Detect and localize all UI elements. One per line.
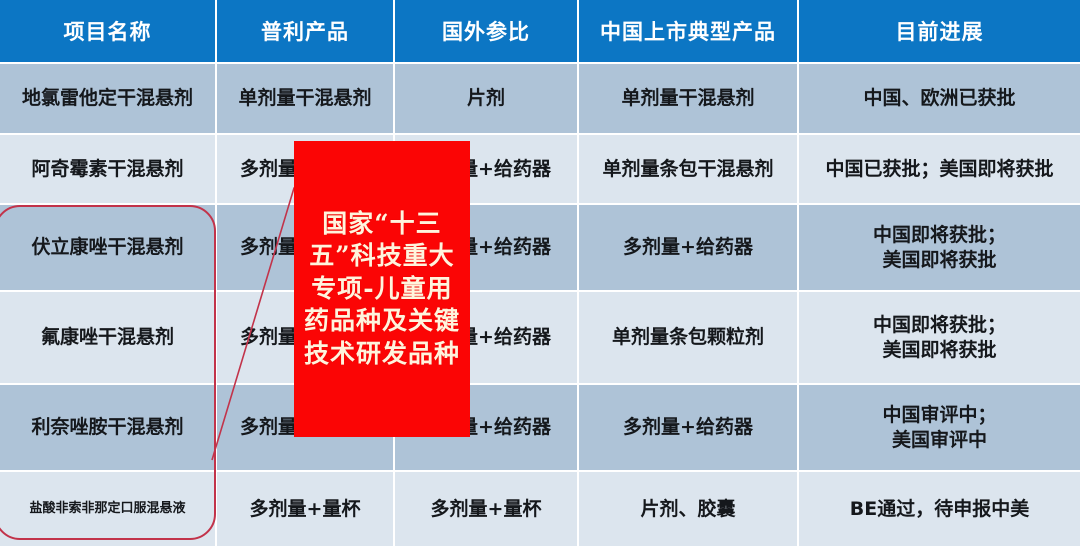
cell-china-marketed-product: 多剂量+给药器 [578,204,798,291]
slide-canvas: 项目名称 普利产品 国外参比 中国上市典型产品 目前进展 地氯雷他定干混悬剂 单… [0,0,1080,546]
table-body: 地氯雷他定干混悬剂 单剂量干混悬剂 片剂 单剂量干混悬剂 中国、欧洲已获批 阿奇… [0,63,1080,546]
cell-china-marketed-product: 单剂量条包颗粒剂 [578,291,798,384]
cell-project-name: 利奈唑胺干混悬剂 [0,384,216,471]
column-header-china-marketed-product: 中国上市典型产品 [578,0,798,63]
table-row: 伏立康唑干混悬剂 多剂量+给药器 多剂量+给药器 多剂量+给药器 中国即将获批；… [0,204,1080,291]
cell-puli-product: 多剂量+量杯 [216,471,394,546]
cell-project-name: 阿奇霉素干混悬剂 [0,134,216,204]
cell-overseas-reference: 片剂 [394,63,578,134]
column-header-overseas-reference: 国外参比 [394,0,578,63]
cell-china-marketed-product: 多剂量+给药器 [578,384,798,471]
table-row: 氟康唑干混悬剂 多剂量+给药器 多剂量+给药器 单剂量条包颗粒剂 中国即将获批；… [0,291,1080,384]
cell-current-progress: 中国已获批；美国即将获批 [798,134,1080,204]
cell-current-progress: 中国审评中；美国审评中 [798,384,1080,471]
cell-current-progress: 中国即将获批；美国即将获批 [798,291,1080,384]
cell-current-progress: 中国即将获批；美国即将获批 [798,204,1080,291]
cell-current-progress: BE通过，待申报中美 [798,471,1080,546]
table-row: 利奈唑胺干混悬剂 多剂量+给药器 多剂量+给药器 多剂量+给药器 中国审评中；美… [0,384,1080,471]
cell-china-marketed-product: 单剂量干混悬剂 [578,63,798,134]
project-progress-table: 项目名称 普利产品 国外参比 中国上市典型产品 目前进展 地氯雷他定干混悬剂 单… [0,0,1080,546]
cell-project-name: 盐酸非索非那定口服混悬液 [0,471,216,546]
cell-current-progress: 中国、欧洲已获批 [798,63,1080,134]
table-row: 盐酸非索非那定口服混悬液 多剂量+量杯 多剂量+量杯 片剂、胶囊 BE通过，待申… [0,471,1080,546]
cell-project-name: 地氯雷他定干混悬剂 [0,63,216,134]
column-header-puli-product: 普利产品 [216,0,394,63]
cell-china-marketed-product: 片剂、胶囊 [578,471,798,546]
table-row: 阿奇霉素干混悬剂 多剂量+给药器 多剂量+给药器 单剂量条包干混悬剂 中国已获批… [0,134,1080,204]
cell-overseas-reference: 多剂量+量杯 [394,471,578,546]
table-row: 地氯雷他定干混悬剂 单剂量干混悬剂 片剂 单剂量干混悬剂 中国、欧洲已获批 [0,63,1080,134]
callout-text: 国家“十三五”科技重大专项-儿童用药品种及关键技术研发品种 [304,208,460,371]
cell-project-name: 伏立康唑干混悬剂 [0,204,216,291]
table-header: 项目名称 普利产品 国外参比 中国上市典型产品 目前进展 [0,0,1080,63]
cell-china-marketed-product: 单剂量条包干混悬剂 [578,134,798,204]
cell-puli-product: 单剂量干混悬剂 [216,63,394,134]
header-row: 项目名称 普利产品 国外参比 中国上市典型产品 目前进展 [0,0,1080,63]
cell-project-name: 氟康唑干混悬剂 [0,291,216,384]
column-header-project-name: 项目名称 [0,0,216,63]
red-callout-box: 国家“十三五”科技重大专项-儿童用药品种及关键技术研发品种 [294,141,470,437]
column-header-current-progress: 目前进展 [798,0,1080,63]
